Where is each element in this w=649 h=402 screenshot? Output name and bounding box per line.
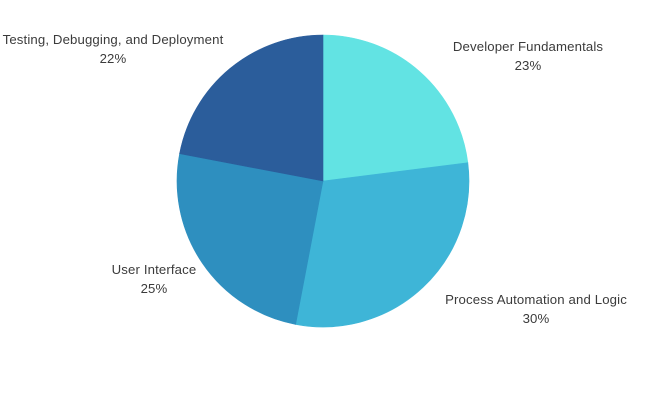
slice-label-percent: 30%: [423, 310, 649, 329]
slice-label-testing-debugging-and-deployment: Testing, Debugging, and Deployment 22%: [0, 31, 226, 68]
slice-label-name: Testing, Debugging, and Deployment: [0, 31, 226, 50]
slice-label-name: User Interface: [41, 261, 267, 280]
slice-label-developer-fundamentals: Developer Fundamentals 23%: [415, 38, 641, 75]
slice-label-percent: 23%: [415, 57, 641, 76]
slice-label-name: Developer Fundamentals: [415, 38, 641, 57]
pie-chart: Testing, Debugging, and Deployment 22% D…: [0, 0, 649, 402]
slice-label-percent: 22%: [0, 50, 226, 69]
slice-label-name: Process Automation and Logic: [423, 291, 649, 310]
slice-label-user-interface: User Interface 25%: [41, 261, 267, 298]
slice-label-percent: 25%: [41, 280, 267, 299]
slice-label-process-automation-and-logic: Process Automation and Logic 30%: [423, 291, 649, 328]
